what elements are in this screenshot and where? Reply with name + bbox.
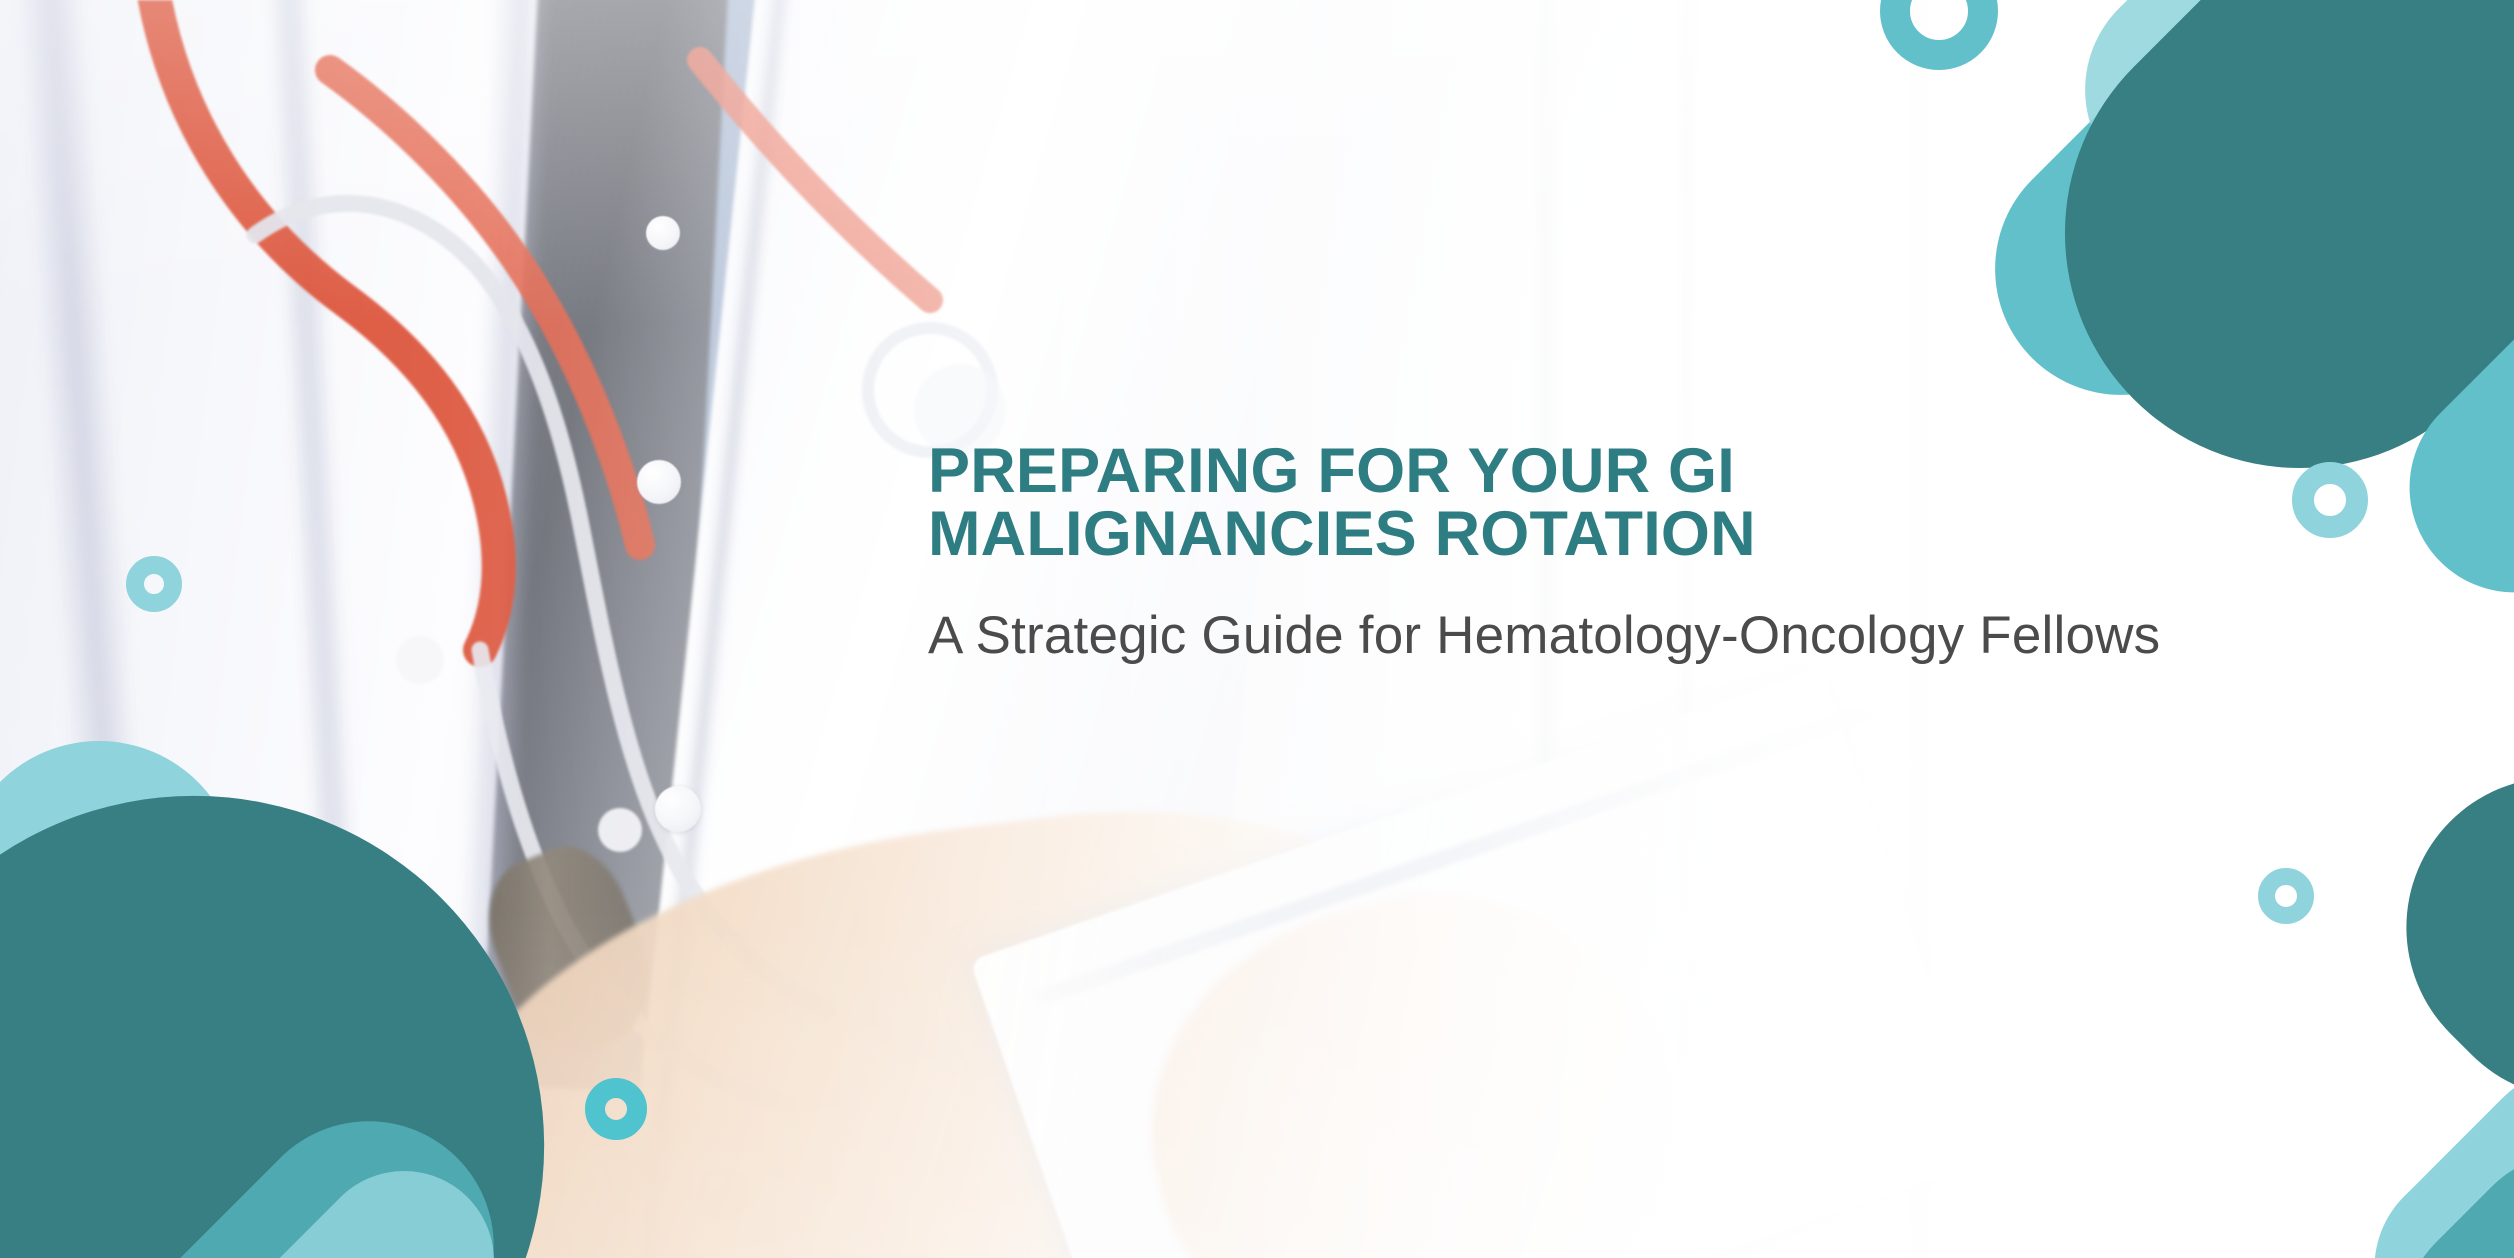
ring-right-low [2258,868,2314,924]
blob-right-edge-dark [2344,715,2514,1160]
slide-canvas: PREPARING FOR YOUR GI MALIGNANCIES ROTAT… [0,0,2514,1258]
page-title: PREPARING FOR YOUR GI MALIGNANCIES ROTAT… [928,440,2168,566]
ring-top-right-small [1880,0,1998,70]
title-text-block: PREPARING FOR YOUR GI MALIGNANCIES ROTAT… [928,440,2168,675]
page-subtitle: A Strategic Guide for Hematology-Oncolog… [928,598,2168,675]
ring-right-mid [2292,462,2368,538]
